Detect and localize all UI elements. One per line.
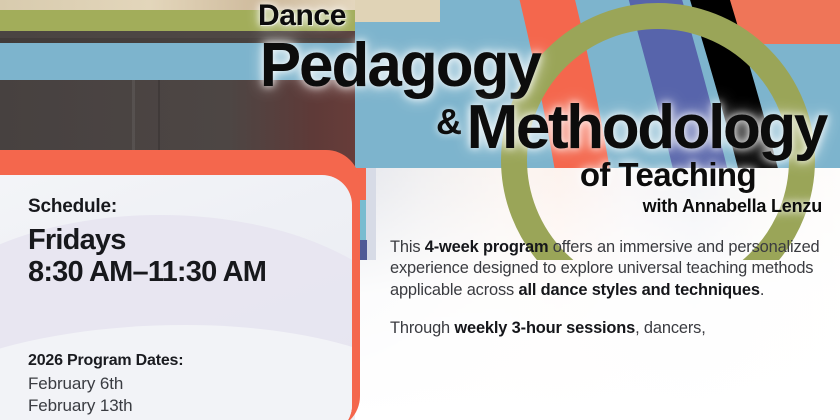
program-dates-group: 2026 Program Dates: February 6th Februar…	[28, 352, 348, 417]
poster-canvas: Dance Pedagogy & Methodology of Teaching…	[0, 0, 840, 420]
program-date-item: February 6th	[28, 373, 348, 395]
title-ampersand: &	[436, 104, 462, 140]
description-paragraph-2: Through weekly 3-hour sessions, dancers,	[390, 318, 822, 339]
schedule-text-group: Schedule: Fridays 8:30 AM–11:30 AM	[28, 196, 338, 289]
title-methodology: Methodology	[467, 97, 826, 159]
schedule-label: Schedule:	[28, 196, 338, 218]
title-pedagogy: Pedagogy	[260, 35, 540, 97]
schedule-time: 8:30 AM–11:30 AM	[28, 256, 338, 288]
eyebrow-dance: Dance	[258, 1, 346, 31]
program-date-item: February 13th	[28, 395, 348, 417]
desc2-text-c: , dancers,	[635, 319, 705, 337]
desc1-text-d: .	[760, 281, 764, 299]
desc1-text-a: This	[390, 238, 425, 256]
schedule-day: Fridays	[28, 224, 338, 256]
desc1-bold-1: 4-week program	[425, 238, 549, 256]
presenter-credit: with Annabella Lenzu	[643, 197, 822, 215]
subtitle-of-teaching: of Teaching	[580, 158, 756, 191]
desc1-bold-2: all dance styles and techniques	[519, 281, 760, 299]
description-paragraph-1: This 4-week program offers an immersive …	[390, 237, 822, 301]
program-dates-label: 2026 Program Dates:	[28, 352, 348, 370]
desc2-text-a: Through	[390, 319, 454, 337]
desc2-bold-1: weekly 3-hour sessions	[454, 319, 635, 337]
description-block: This 4-week program offers an immersive …	[390, 237, 822, 356]
headline-block: Dance Pedagogy & Methodology of Teaching…	[0, 0, 840, 220]
